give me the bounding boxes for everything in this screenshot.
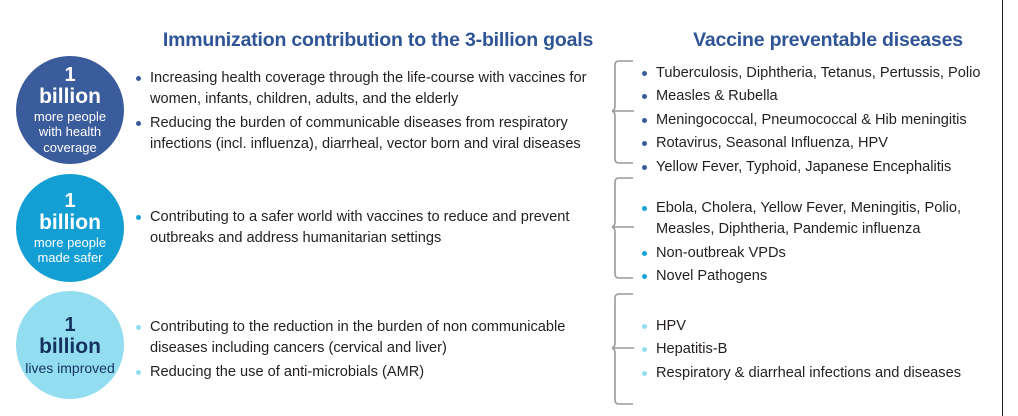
list-item-text: Respiratory & diarrheal infections and d… [656, 365, 961, 381]
bullet-dot-icon [136, 325, 141, 330]
brace-row-1 [612, 60, 638, 164]
column-heading-diseases: Vaccine preventable diseases [648, 29, 1008, 52]
list-item-text: Meningococcal, Pneumococcal & Hib mening… [656, 112, 967, 128]
circle-unit: billion [39, 335, 101, 359]
list-item: Tuberculosis, Diphtheria, Tetanus, Pertu… [640, 63, 1002, 84]
right-frame-border [1002, 0, 1003, 416]
list-item-text: Non-outbreak VPDs [656, 245, 786, 261]
list-item-text: Increasing health coverage through the l… [150, 70, 586, 107]
list-item-text: Contributing to a safer world with vacci… [150, 209, 569, 246]
goal-circle-health-coverage: 1 billion more people with health covera… [16, 56, 124, 164]
list-item-text: Tuberculosis, Diphtheria, Tetanus, Pertu… [656, 65, 980, 81]
disease-list-row-2: Ebola, Cholera, Yellow Fever, Meningitis… [640, 198, 1002, 288]
circle-caption-line: lives improved [25, 360, 114, 376]
list-item: Increasing health coverage through the l… [134, 68, 612, 111]
list-item-text: Reducing the use of anti-microbials (AMR… [150, 364, 424, 380]
bullet-dot-icon [136, 76, 141, 81]
bullet-dot-icon [642, 206, 647, 211]
list-item-text: Rotavirus, Seasonal Influenza, HPV [656, 135, 888, 151]
circle-unit: billion [39, 211, 101, 235]
circle-number: 1 [64, 190, 75, 212]
bullet-dot-icon [642, 141, 647, 146]
bullet-dot-icon [642, 274, 647, 279]
list-item-text: Yellow Fever, Typhoid, Japanese Encephal… [656, 159, 951, 175]
bullet-dot-icon [642, 118, 647, 123]
list-item-text: Ebola, Cholera, Yellow Fever, Meningitis… [656, 200, 961, 237]
list-item-text: Hepatitis-B [656, 341, 727, 357]
contribution-list-row-2: Contributing to a safer world with vacci… [134, 207, 612, 250]
contribution-list-row-3: Contributing to the reduction in the bur… [134, 317, 612, 383]
list-item: Respiratory & diarrheal infections and d… [640, 363, 1002, 384]
list-item: Contributing to a safer world with vacci… [134, 207, 612, 250]
circle-caption-line: more people [34, 110, 106, 125]
disease-list-row-3: HPV Hepatitis-B Respiratory & diarrheal … [640, 316, 1002, 384]
bullet-dot-icon [642, 347, 647, 352]
list-item: HPV [640, 316, 1002, 337]
list-item-text: Measles & Rubella [656, 88, 778, 104]
circle-caption-line: made safer [37, 251, 102, 266]
list-item: Novel Pathogens [640, 266, 1002, 287]
brace-row-3 [612, 293, 638, 405]
list-item: Non-outbreak VPDs [640, 243, 1002, 264]
bullet-dot-icon [642, 165, 647, 170]
column-heading-contribution: Immunization contribution to the 3-billi… [156, 29, 600, 52]
circle-unit: billion [39, 85, 101, 109]
list-item: Hepatitis-B [640, 339, 1002, 360]
bullet-dot-icon [136, 215, 141, 220]
bullet-dot-icon [136, 121, 141, 126]
list-item-text: HPV [656, 318, 686, 334]
list-item: Meningococcal, Pneumococcal & Hib mening… [640, 110, 1002, 131]
contribution-list-row-1: Increasing health coverage through the l… [134, 68, 612, 156]
list-item-text: Reducing the burden of communicable dise… [150, 115, 581, 152]
list-item: Yellow Fever, Typhoid, Japanese Encephal… [640, 157, 1002, 178]
bullet-dot-icon [642, 371, 647, 376]
list-item: Measles & Rubella [640, 86, 1002, 107]
bullet-dot-icon [136, 370, 141, 375]
list-item-text: Novel Pathogens [656, 268, 767, 284]
goal-circle-lives-improved: 1 billion lives improved [16, 291, 124, 399]
bullet-dot-icon [642, 71, 647, 76]
circle-caption-line: with health [39, 125, 101, 140]
circle-caption-line: coverage [43, 141, 96, 156]
infographic-canvas: Immunization contribution to the 3-billi… [0, 0, 1018, 416]
brace-row-2 [612, 177, 638, 279]
bullet-dot-icon [642, 324, 647, 329]
disease-list-row-1: Tuberculosis, Diphtheria, Tetanus, Pertu… [640, 63, 1002, 178]
list-item: Contributing to the reduction in the bur… [134, 317, 612, 360]
goal-circle-made-safer: 1 billion more people made safer [16, 174, 124, 282]
list-item: Reducing the burden of communicable dise… [134, 113, 612, 156]
bullet-dot-icon [642, 94, 647, 99]
circle-number: 1 [64, 64, 75, 86]
circle-number: 1 [64, 314, 75, 336]
circle-caption-line: more people [34, 236, 106, 251]
list-item: Ebola, Cholera, Yellow Fever, Meningitis… [640, 198, 1002, 241]
list-item: Reducing the use of anti-microbials (AMR… [134, 362, 612, 383]
bullet-dot-icon [642, 251, 647, 256]
list-item: Rotavirus, Seasonal Influenza, HPV [640, 133, 1002, 154]
list-item-text: Contributing to the reduction in the bur… [150, 319, 565, 356]
